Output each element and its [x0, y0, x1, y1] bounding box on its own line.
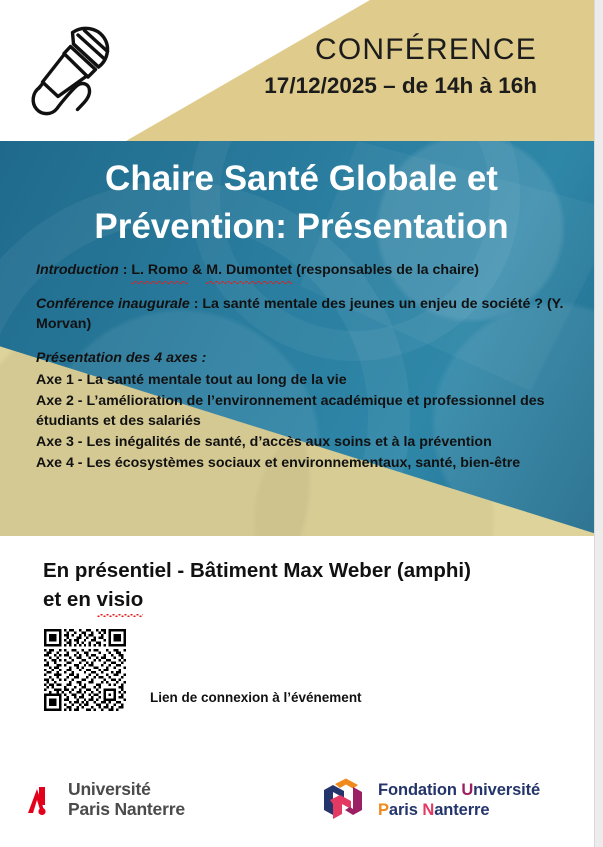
fondation-initial-u: U [461, 781, 473, 799]
introduction-speaker-2: M. Dumontet [206, 260, 292, 281]
venue-visio-word: visio [97, 585, 144, 614]
logo-universite-paris-nanterre: Université Paris Nanterre [28, 780, 185, 820]
fondation-word-ondation: ondation [388, 781, 461, 799]
upn-wordmark-line-1: Université [68, 780, 185, 800]
inaugural-title: La santé mentale des jeunes un enjeu de … [202, 296, 543, 312]
poster-date-time: 17/12/2025 – de 14h à 16h [264, 73, 537, 99]
microphone-icon [26, 22, 122, 126]
upn-logo-mark-icon [28, 783, 60, 817]
introduction-separator: : [119, 262, 132, 278]
venue-line-1: En présentiel - Bâtiment Max Weber (amph… [43, 556, 543, 585]
inaugural-separator: : [190, 296, 203, 312]
qr-row: Lien de connexion à l’événement [44, 629, 362, 711]
axis-item-4: Axe 4 - Les écosystèmes sociaux et envir… [36, 453, 581, 474]
venue-line-2: et en visio [43, 585, 543, 614]
axes-heading: Présentation des 4 axes : [36, 348, 581, 369]
inaugural-lecture-line: Conférence inaugurale : La santé mentale… [36, 294, 581, 335]
introduction-line: Introduction : L. Romo & M. Dumontet (re… [36, 260, 581, 281]
main-blue-band: Chaire Santé Globale et Prévention: Prés… [0, 141, 603, 536]
venue-info: En présentiel - Bâtiment Max Weber (amph… [43, 556, 543, 614]
fondation-initial-p: P [378, 801, 389, 819]
venue-line-2-prefix: et en [43, 588, 97, 611]
band-content: Chaire Santé Globale et Prévention: Prés… [0, 141, 603, 536]
fondation-word-anterre: anterre [434, 801, 489, 819]
fondation-wordmark-line-2: Paris Nanterre [378, 800, 540, 820]
fondation-logo-mark-icon [320, 778, 366, 822]
title-line-1: Chaire Santé Globale et [105, 159, 498, 198]
right-gutter [595, 0, 603, 847]
poster-kicker: CONFÉRENCE [264, 34, 537, 66]
introduction-speaker-1: L. Romo [131, 260, 188, 281]
axes-block: Présentation des 4 axes : Axe 1 - La san… [36, 348, 581, 473]
poster-header: CONFÉRENCE 17/12/2025 – de 14h à 16h [0, 0, 603, 141]
right-edge-rule [594, 0, 595, 847]
header-text-block: CONFÉRENCE 17/12/2025 – de 14h à 16h [264, 34, 537, 99]
qr-code-label: Lien de connexion à l’événement [150, 690, 362, 705]
axis-item-3: Axe 3 - Les inégalités de santé, d’accès… [36, 432, 581, 453]
conference-poster: CONFÉRENCE 17/12/2025 – de 14h à 16h Cha… [0, 0, 603, 847]
fondation-initial-f: F [378, 781, 388, 799]
upn-logo-wordmark: Université Paris Nanterre [68, 780, 185, 820]
program-details: Introduction : L. Romo & M. Dumontet (re… [36, 260, 581, 474]
poster-footer: En présentiel - Bâtiment Max Weber (amph… [0, 536, 603, 847]
axis-item-2: Axe 2 - L’amélioration de l’environnemen… [36, 391, 581, 432]
logo-row: Université Paris Nanterre Fond [0, 772, 603, 844]
fondation-initial-n: N [422, 801, 434, 819]
introduction-ampersand: & [188, 262, 206, 278]
introduction-role: (responsables de la chaire) [292, 262, 479, 278]
axis-item-1: Axe 1 - La santé mentale tout au long de… [36, 370, 581, 391]
qr-code[interactable] [44, 629, 126, 711]
fondation-word-aris: aris [389, 801, 422, 819]
fondation-wordmark-line-1: Fondation Université [378, 780, 540, 800]
fondation-logo-wordmark: Fondation Université Paris Nanterre [378, 780, 540, 820]
inaugural-label: Conférence inaugurale [36, 296, 190, 312]
upn-wordmark-line-2: Paris Nanterre [68, 800, 185, 820]
fondation-word-niversite: niversité [473, 781, 540, 799]
logo-fondation-universite-paris-nanterre: Fondation Université Paris Nanterre [320, 778, 540, 822]
introduction-label: Introduction [36, 262, 119, 278]
title-line-2: Prévention: Présentation [94, 207, 508, 246]
page-title: Chaire Santé Globale et Prévention: Prés… [0, 155, 603, 250]
